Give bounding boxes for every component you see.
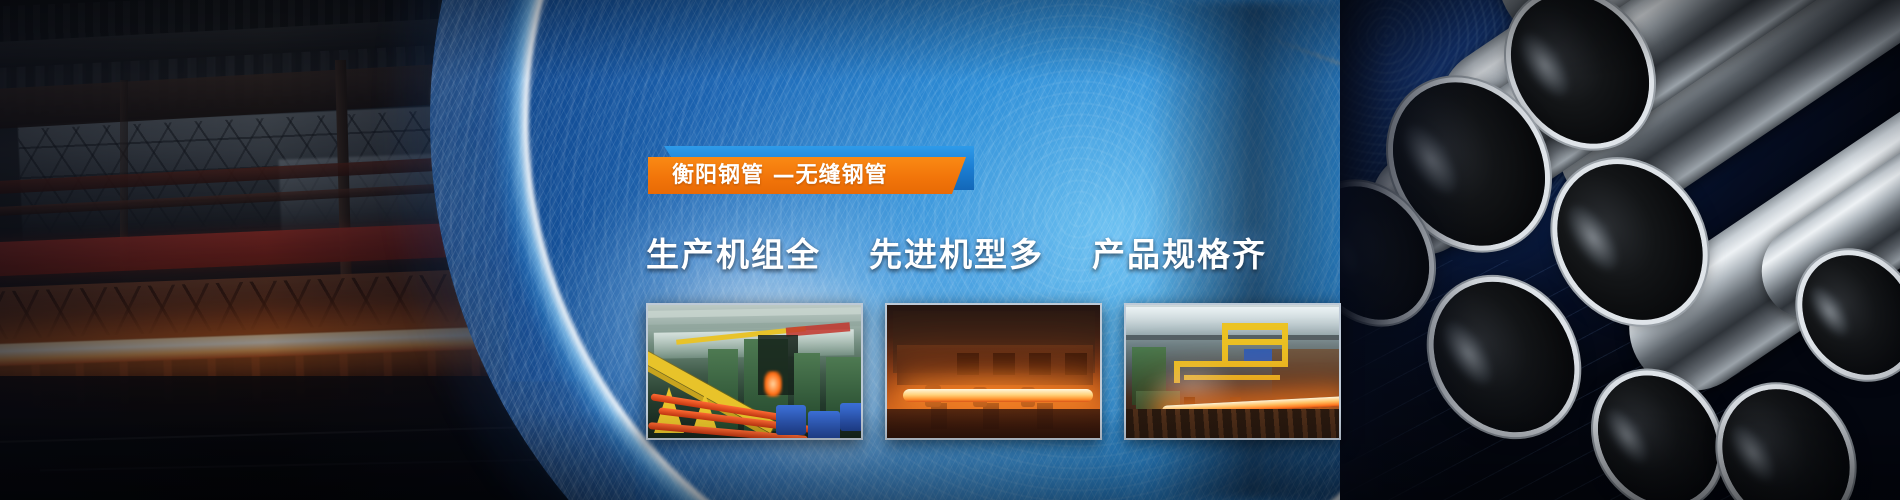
thumbnail-hot-billet-rolling[interactable] xyxy=(885,303,1102,440)
thumbnail-plant-hall-hot-bar[interactable] xyxy=(1124,303,1341,440)
ribbon-orange-plate: 衡阳钢管 —无缝钢管 xyxy=(648,157,966,194)
headline: 生产机组全 先进机型多 产品规格齐 xyxy=(646,238,1267,271)
promo-banner: 衡阳钢管 —无缝钢管 生产机组全 先进机型多 产品规格齐 xyxy=(0,0,1900,500)
brand-ribbon-label: 衡阳钢管 —无缝钢管 xyxy=(648,165,888,187)
headline-phrase-2: 先进机型多 xyxy=(869,238,1044,271)
headline-phrase-1: 生产机组全 xyxy=(646,238,821,271)
headline-phrase-3: 产品规格齐 xyxy=(1092,238,1267,271)
thumbnail-photo-3 xyxy=(1126,305,1339,438)
banner-content: 衡阳钢管 —无缝钢管 生产机组全 先进机型多 产品规格齐 xyxy=(646,0,1386,500)
thumbnail-rolling-mill-line[interactable] xyxy=(646,303,863,440)
thumbnail-strip xyxy=(646,303,1341,440)
steel-pipes-image xyxy=(1340,0,1900,500)
brand-ribbon-badge: 衡阳钢管 —无缝钢管 xyxy=(648,157,974,193)
thumbnail-photo-2 xyxy=(887,305,1100,438)
pipes-shading-overlay xyxy=(1340,0,1900,500)
thumbnail-photo-1 xyxy=(648,305,861,438)
